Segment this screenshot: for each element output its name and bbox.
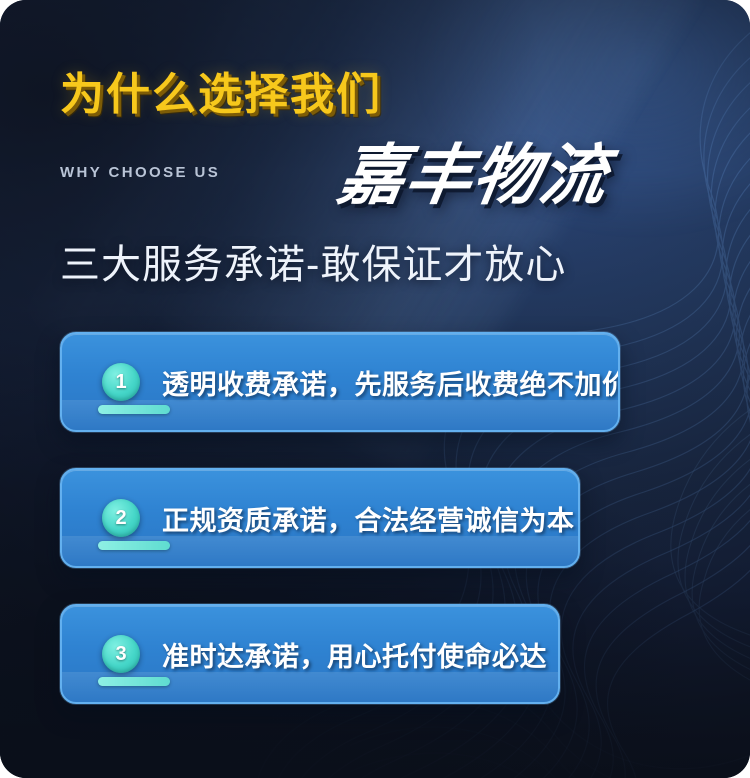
promise-number-badge: 3: [102, 635, 140, 673]
brand-title: 嘉丰物流: [332, 122, 615, 218]
promise-text: 正规资质承诺，合法经营诚信为本: [162, 499, 575, 538]
accent-underline-bar: [98, 541, 170, 550]
promise-card[interactable]: 1 透明收费承诺，先服务后收费绝不加价: [60, 332, 620, 432]
kicker-heading-cn: 为什么选择我们: [60, 58, 382, 122]
promo-poster: 为什么选择我们 WHY CHOOSE US 嘉丰物流 三大服务承诺-敢保证才放心…: [0, 0, 750, 778]
promise-text: 透明收费承诺，先服务后收费绝不加价: [162, 363, 620, 402]
accent-underline-bar: [98, 677, 170, 686]
subtitle-heading: 三大服务承诺-敢保证才放心: [60, 232, 566, 290]
promise-card-list: 1 透明收费承诺，先服务后收费绝不加价 2 正规资质承诺，合法经营诚信为本 3 …: [60, 332, 700, 740]
promise-card[interactable]: 2 正规资质承诺，合法经营诚信为本: [60, 468, 580, 568]
promise-card[interactable]: 3 准时达承诺，用心托付使命必达: [60, 604, 560, 704]
accent-underline-bar: [98, 405, 170, 414]
poster-content: 为什么选择我们 WHY CHOOSE US 嘉丰物流 三大服务承诺-敢保证才放心…: [0, 0, 750, 778]
promise-number-badge: 1: [102, 363, 140, 401]
kicker-heading-en: WHY CHOOSE US: [60, 164, 220, 181]
promise-number-badge: 2: [102, 499, 140, 537]
promise-text: 准时达承诺，用心托付使命必达: [162, 635, 547, 674]
